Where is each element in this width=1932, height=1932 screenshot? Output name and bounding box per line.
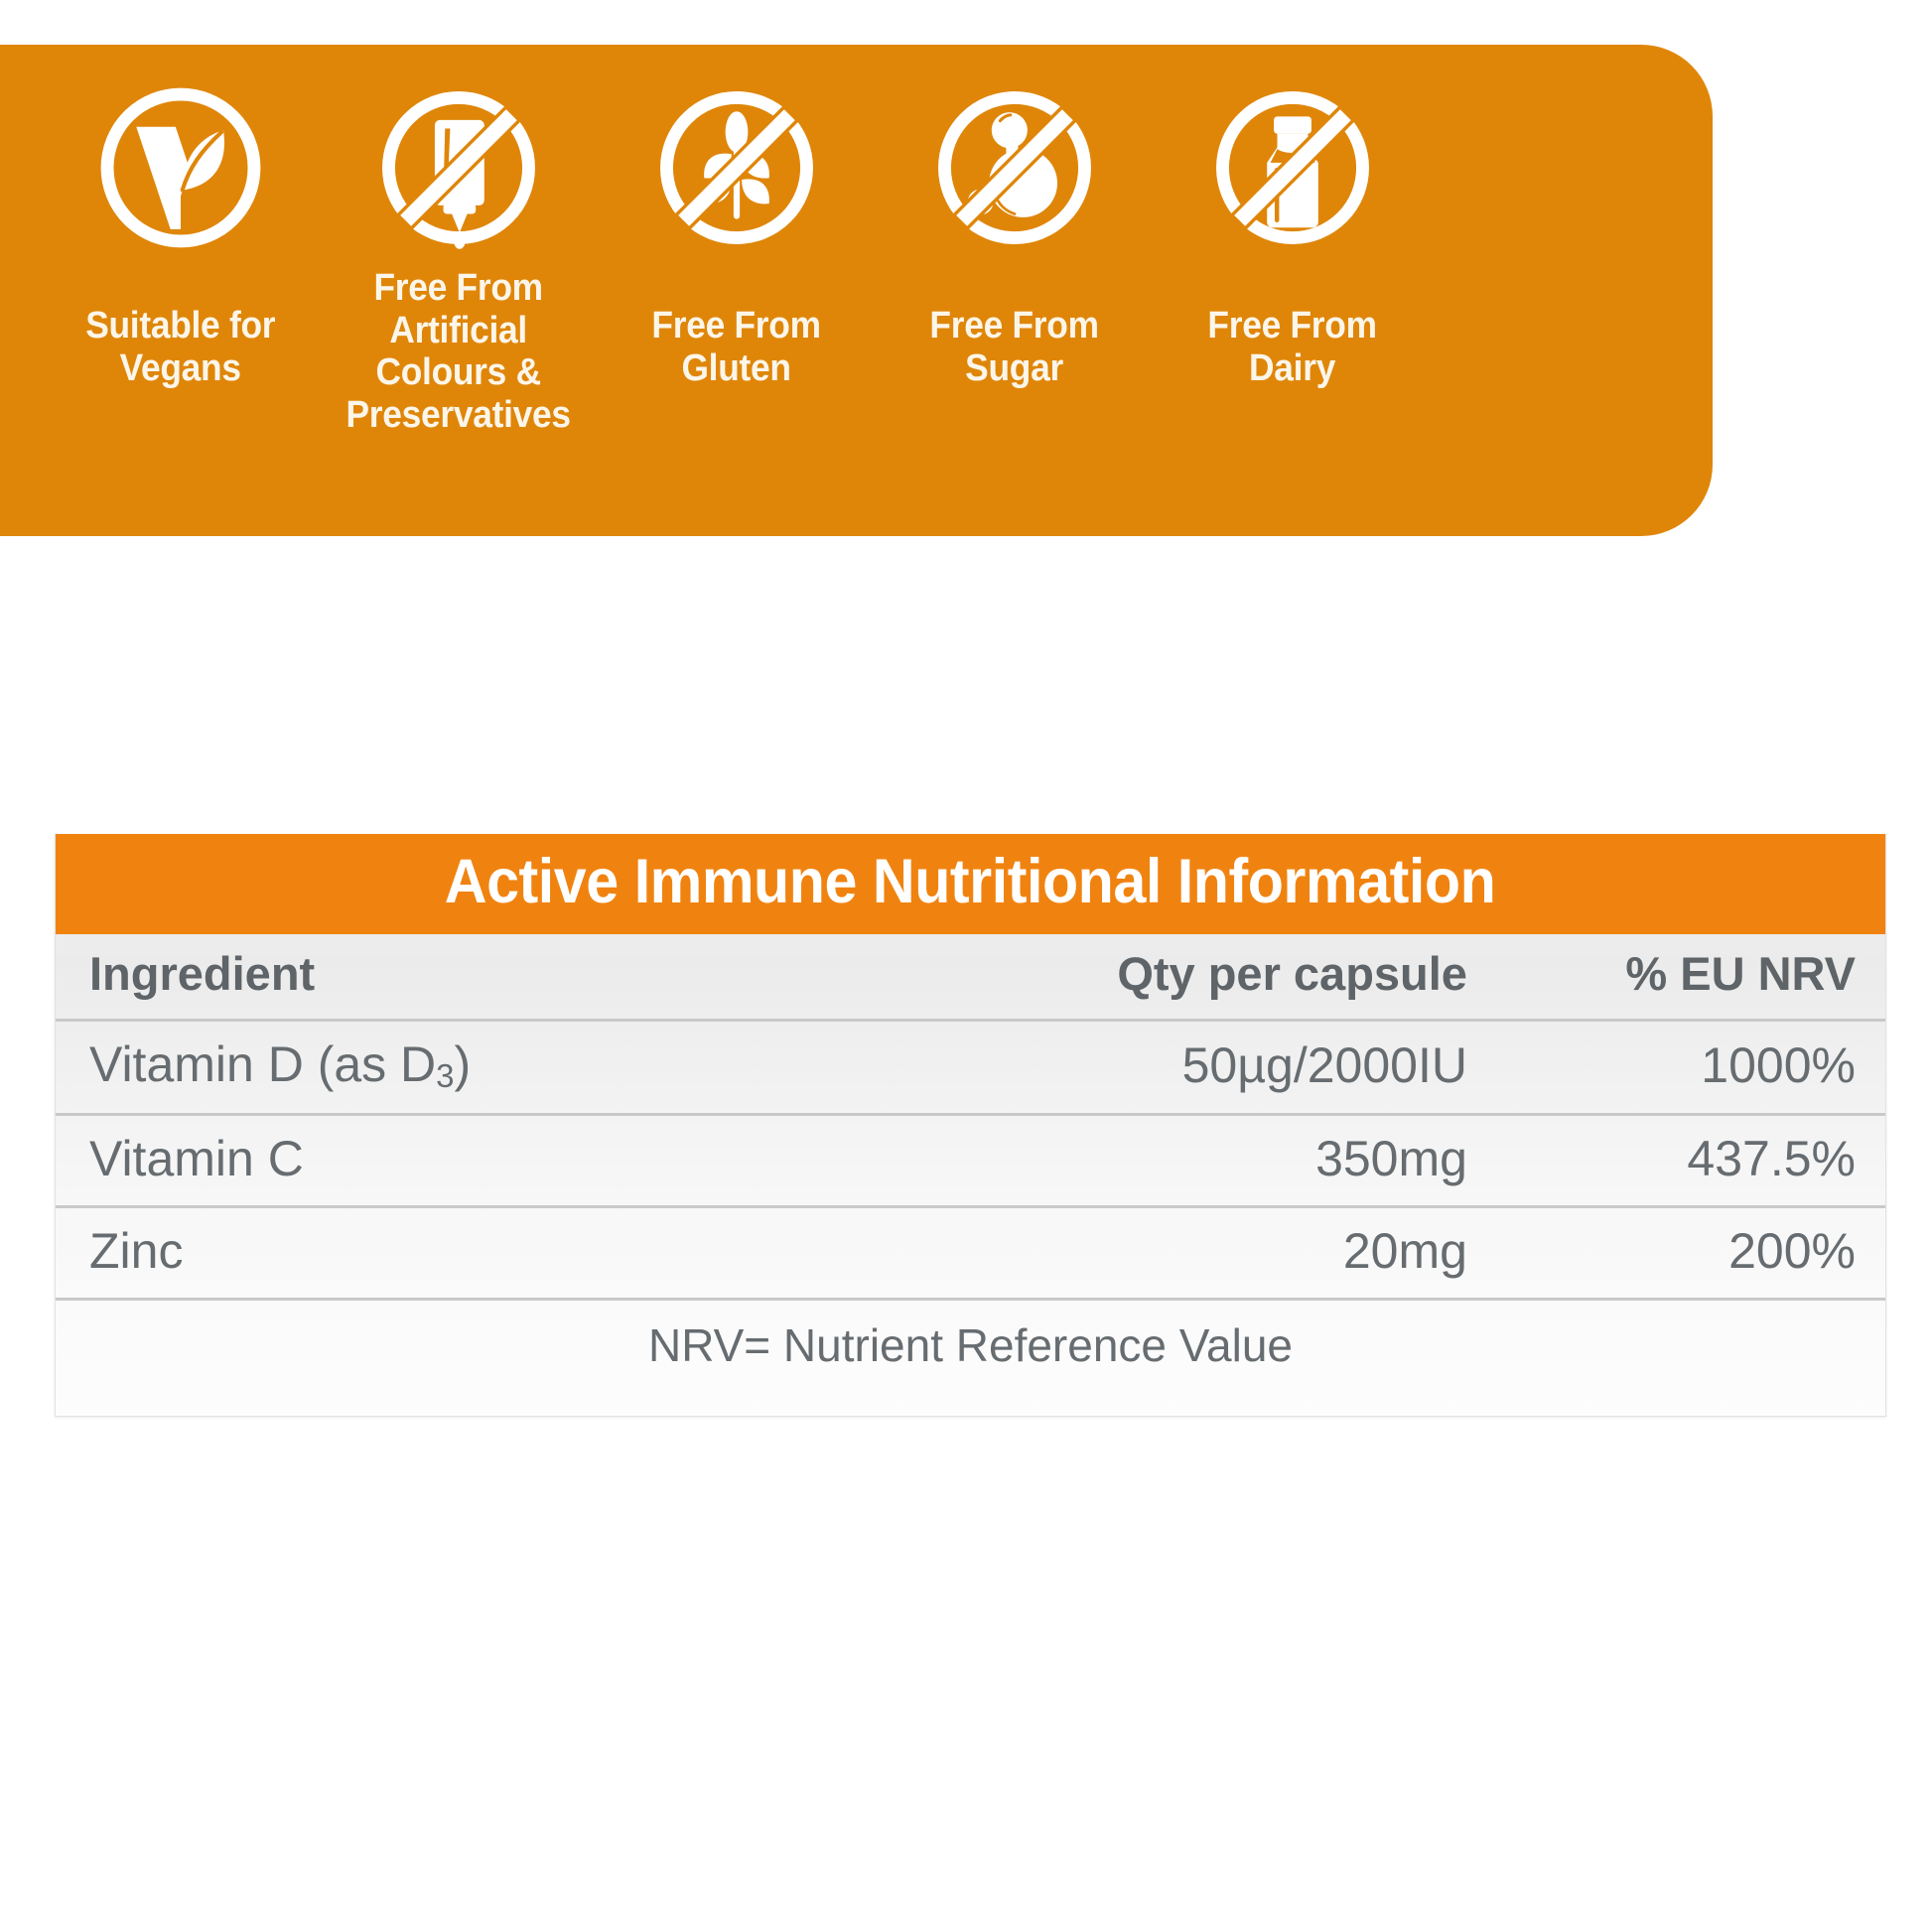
- ingredient-subscript: 3: [436, 1057, 454, 1094]
- nutrition-title: Active Immune Nutritional Information: [56, 834, 1885, 934]
- column-header-ingredient: Ingredient: [56, 934, 915, 1021]
- badge-free-from-gluten: Free FromGluten: [598, 45, 876, 389]
- no-artificial-colours-icon: [373, 82, 544, 253]
- cell-ingredient: Zinc: [56, 1206, 915, 1299]
- cell-ingredient: Vitamin D (as D3): [56, 1021, 915, 1115]
- free-from-badge-row: Suitable forVegans: [0, 45, 1713, 536]
- table-row: Vitamin D (as D3) 50µg/2000IU 1000%: [56, 1021, 1885, 1115]
- cell-ingredient: Vitamin C: [56, 1114, 915, 1206]
- badge-label: Free FromSugar: [930, 305, 1099, 389]
- badge-label: Free FromArtificialColours &Preservative…: [346, 267, 571, 436]
- nrv-footnote: NRV= Nutrient Reference Value: [56, 1299, 1885, 1416]
- nutrition-table-body: Vitamin D (as D3) 50µg/2000IU 1000% Vita…: [56, 1021, 1885, 1416]
- free-from-banner: Suitable forVegans: [0, 45, 1713, 536]
- badge-label: Free FromDairy: [1208, 305, 1377, 389]
- ingredient-name: Vitamin D (as D: [89, 1036, 436, 1092]
- table-header-row: Ingredient Qty per capsule % EU NRV: [56, 934, 1885, 1021]
- badge-label: Suitable forVegans: [85, 305, 275, 389]
- cell-qty: 350mg: [915, 1114, 1501, 1206]
- nutrition-table-head: Ingredient Qty per capsule % EU NRV: [56, 934, 1885, 1021]
- nutrition-title-text: Active Immune Nutritional Information: [445, 851, 1496, 913]
- badge-suitable-for-vegans: Suitable forVegans: [42, 45, 320, 389]
- cell-qty: 20mg: [915, 1206, 1501, 1299]
- cell-nrv: 1000%: [1501, 1021, 1885, 1115]
- no-dairy-bottle-icon: [1207, 82, 1378, 253]
- table-footnote-row: NRV= Nutrient Reference Value: [56, 1299, 1885, 1416]
- nutrition-table: Ingredient Qty per capsule % EU NRV Vita…: [56, 934, 1885, 1416]
- table-row: Vitamin C 350mg 437.5%: [56, 1114, 1885, 1206]
- no-gluten-wheat-icon: [651, 82, 822, 253]
- cell-nrv: 437.5%: [1501, 1114, 1885, 1206]
- badge-label: Free FromGluten: [652, 305, 821, 389]
- no-sugar-molecule-icon: [929, 82, 1100, 253]
- ingredient-tail: ): [455, 1036, 472, 1092]
- vegan-leaf-icon: [95, 82, 266, 253]
- cell-nrv: 200%: [1501, 1206, 1885, 1299]
- column-header-nrv: % EU NRV: [1501, 934, 1885, 1021]
- table-row: Zinc 20mg 200%: [56, 1206, 1885, 1299]
- badge-free-from-dairy: Free FromDairy: [1154, 45, 1432, 389]
- nutrition-panel: Active Immune Nutritional Information In…: [55, 834, 1886, 1417]
- badge-free-from-sugar: Free FromSugar: [876, 45, 1154, 389]
- cell-qty: 50µg/2000IU: [915, 1021, 1501, 1115]
- badge-free-from-artificial-colours: Free FromArtificialColours &Preservative…: [320, 45, 598, 436]
- column-header-qty: Qty per capsule: [915, 934, 1501, 1021]
